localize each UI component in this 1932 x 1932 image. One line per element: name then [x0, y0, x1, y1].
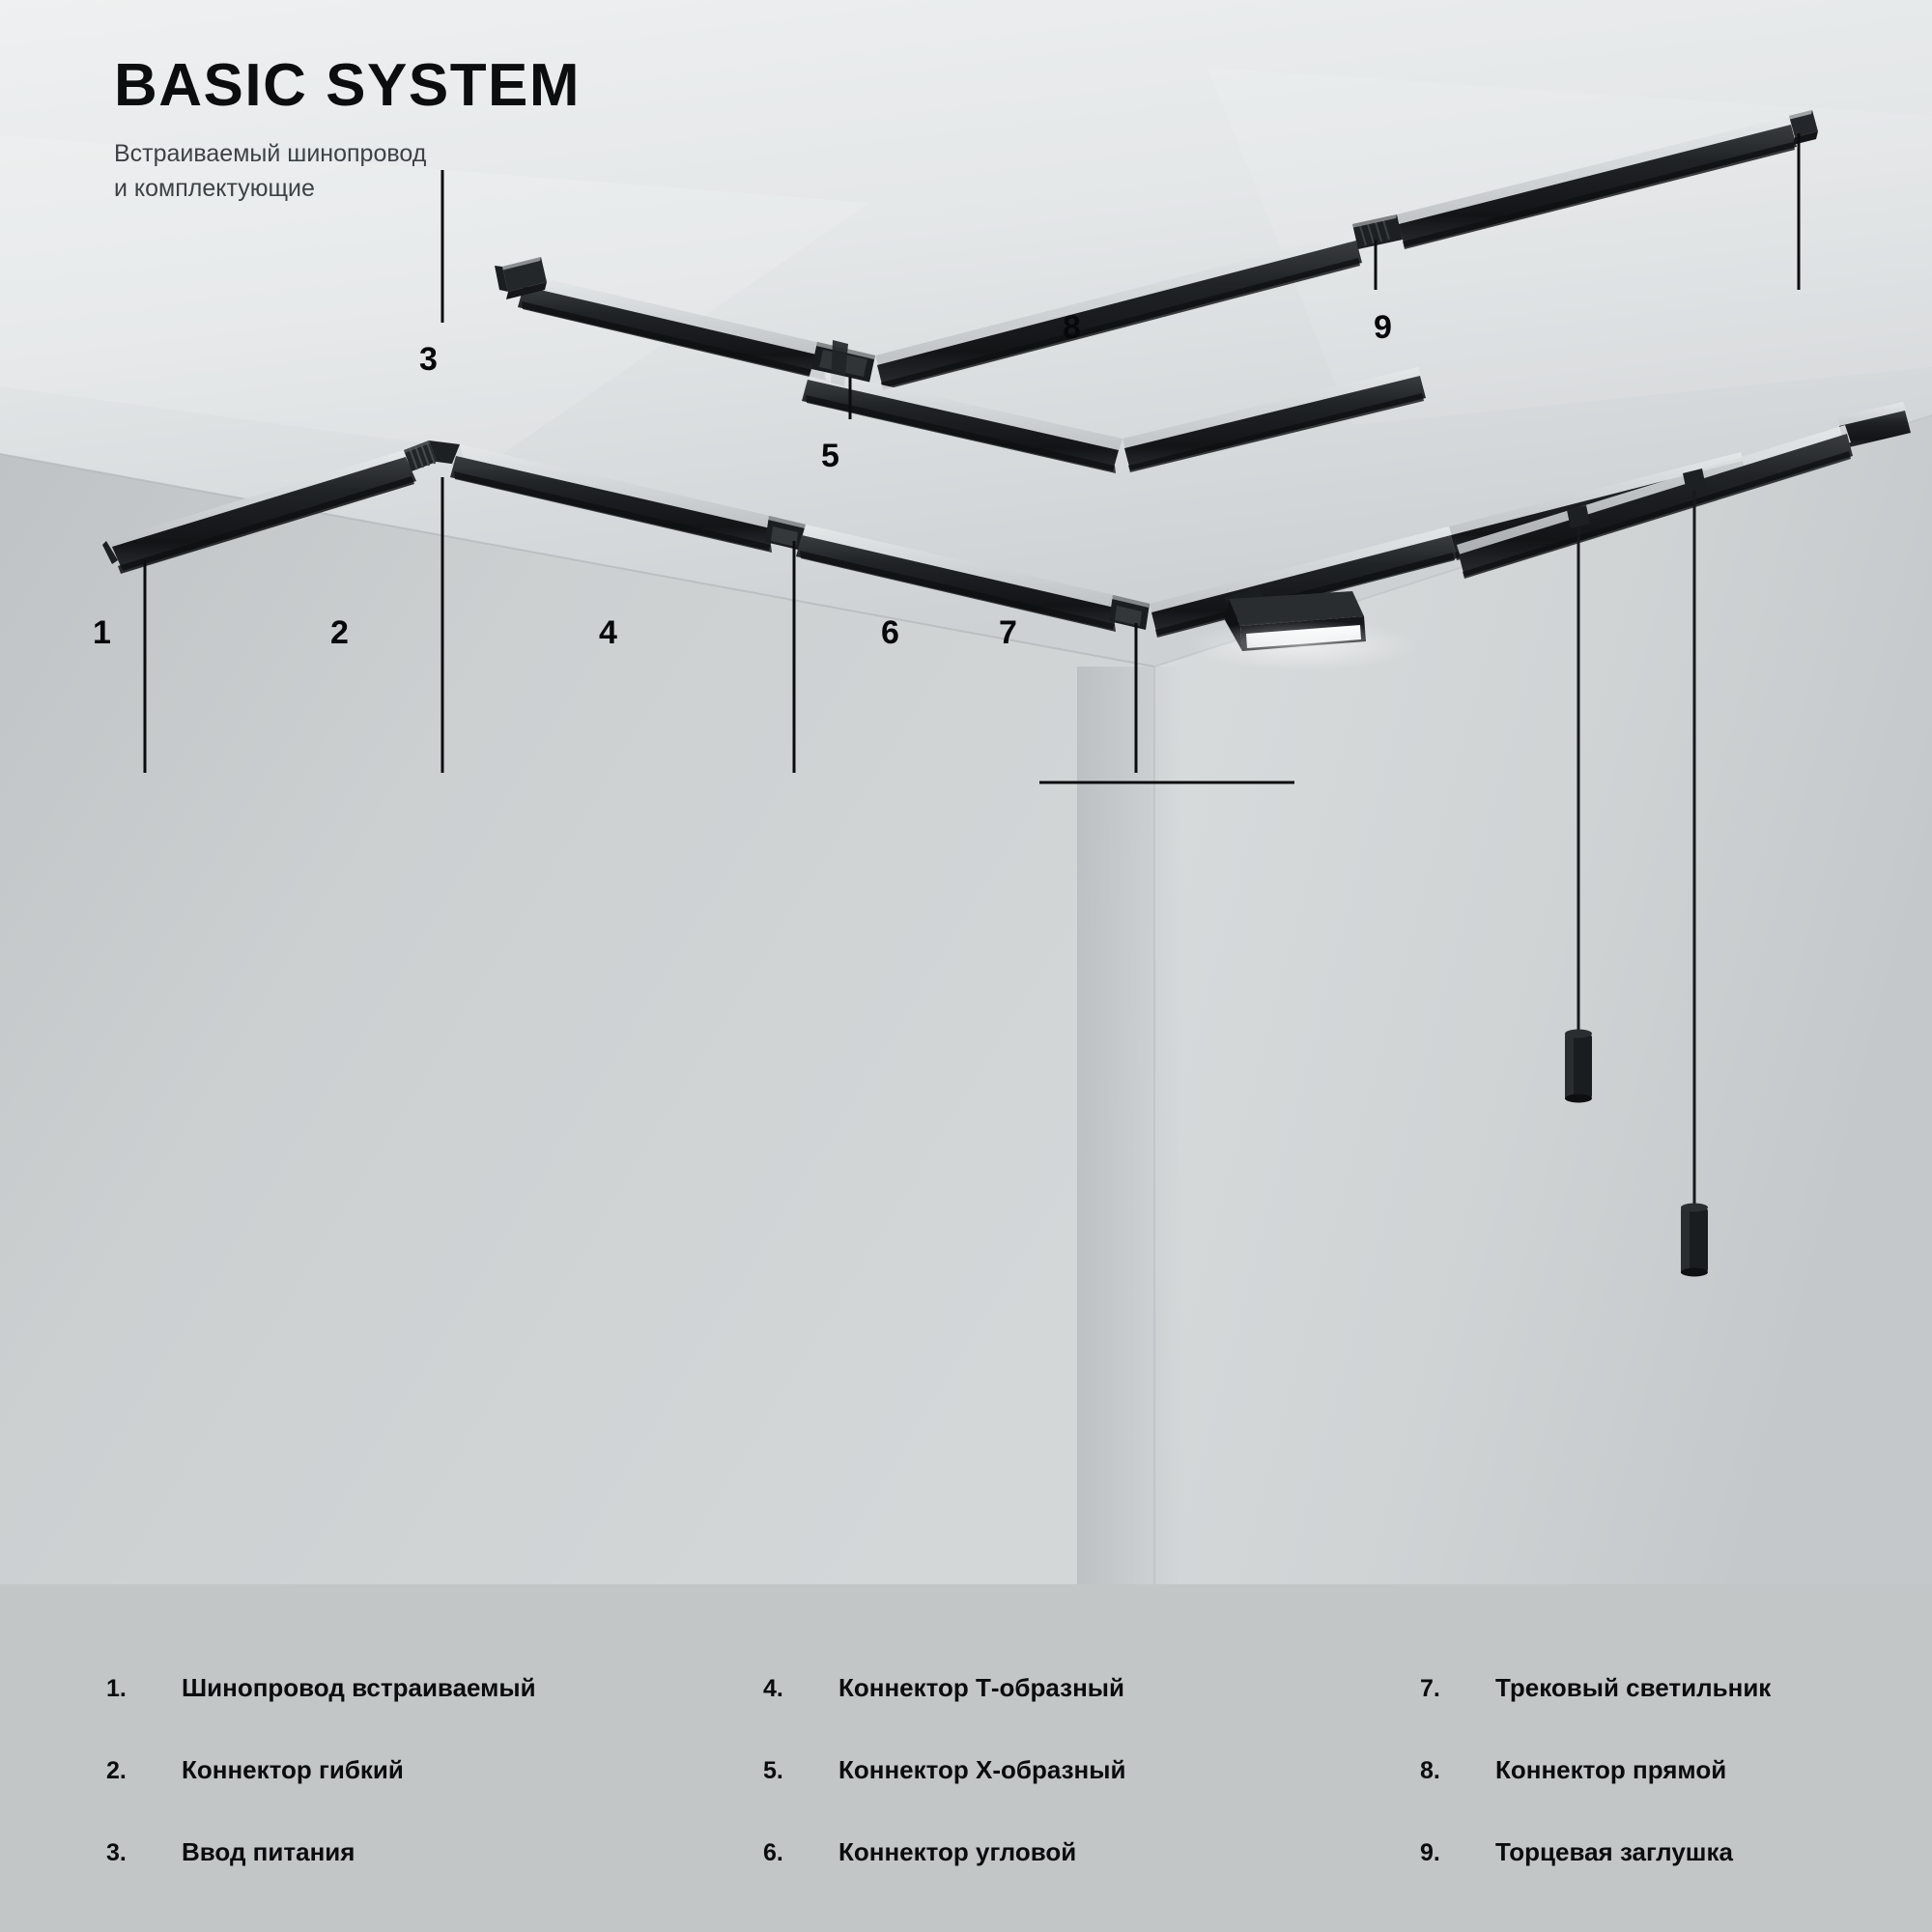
- legend-item-8: 8. Коннектор прямой: [1420, 1755, 1845, 1785]
- callout-number-1: 1: [93, 616, 111, 649]
- legend-column-3: 7. Трековый светильник 8. Коннектор прям…: [1420, 1673, 1845, 1867]
- callout-number-4: 4: [599, 616, 617, 649]
- callout-number-2: 2: [330, 616, 349, 649]
- callout-number-6: 6: [881, 616, 899, 649]
- legend-item-5-number: 5.: [763, 1757, 838, 1785]
- poster-page: BASIC SYSTEM Встраиваемый шинопровод и к…: [0, 0, 1932, 1932]
- legend-panel: 1. Шинопровод встраиваемый 2. Коннектор …: [0, 1584, 1932, 1932]
- callout-number-3: 3: [419, 343, 438, 376]
- legend-column-2: 4. Коннектор Т-образный 5. Коннектор Х-о…: [763, 1673, 1420, 1867]
- legend-item-9: 9. Торцевая заглушка: [1420, 1837, 1845, 1867]
- legend-item-2-label: Коннектор гибкий: [182, 1755, 404, 1785]
- legend-item-8-label: Коннектор прямой: [1495, 1755, 1726, 1785]
- legend-item-5-label: Коннектор Х-образный: [838, 1755, 1125, 1785]
- legend-item-1: 1. Шинопровод встраиваемый: [106, 1673, 763, 1703]
- legend-item-6: 6. Коннектор угловой: [763, 1837, 1420, 1867]
- legend-item-8-number: 8.: [1420, 1757, 1495, 1785]
- legend-column-1: 1. Шинопровод встраиваемый 2. Коннектор …: [106, 1673, 763, 1867]
- legend-item-3-label: Ввод питания: [182, 1837, 355, 1867]
- legend-item-6-number: 6.: [763, 1839, 838, 1867]
- page-title: BASIC SYSTEM: [114, 56, 581, 116]
- corner-shading: [1077, 667, 1183, 1584]
- legend-item-6-label: Коннектор угловой: [838, 1837, 1076, 1867]
- poster-header: BASIC SYSTEM Встраиваемый шинопровод и к…: [114, 56, 581, 206]
- legend-item-4-number: 4.: [763, 1675, 838, 1703]
- callout-number-5: 5: [821, 440, 839, 472]
- legend-item-2-number: 2.: [106, 1757, 182, 1785]
- legend-item-7: 7. Трековый светильник: [1420, 1673, 1845, 1703]
- callout-number-7: 7: [999, 616, 1017, 649]
- legend-item-9-label: Торцевая заглушка: [1495, 1837, 1733, 1867]
- legend-item-1-label: Шинопровод встраиваемый: [182, 1673, 536, 1703]
- legend-item-3-number: 3.: [106, 1839, 182, 1867]
- legend-item-5: 5. Коннектор Х-образный: [763, 1755, 1420, 1785]
- legend-item-4-label: Коннектор Т-образный: [838, 1673, 1124, 1703]
- legend-item-2: 2. Коннектор гибкий: [106, 1755, 763, 1785]
- callout-number-8: 8: [1063, 311, 1081, 344]
- page-subtitle: Встраиваемый шинопровод и комплектующие: [114, 137, 581, 206]
- legend-item-4: 4. Коннектор Т-образный: [763, 1673, 1420, 1703]
- legend-item-1-number: 1.: [106, 1675, 182, 1703]
- legend-item-9-number: 9.: [1420, 1839, 1495, 1867]
- ceiling-track-scene: [0, 0, 1932, 1584]
- callout-number-9: 9: [1374, 311, 1392, 344]
- room-shell: [0, 0, 1932, 1584]
- legend-columns: 1. Шинопровод встраиваемый 2. Коннектор …: [106, 1673, 1845, 1867]
- legend-item-3: 3. Ввод питания: [106, 1837, 763, 1867]
- legend-item-7-number: 7.: [1420, 1675, 1495, 1703]
- legend-item-7-label: Трековый светильник: [1495, 1673, 1771, 1703]
